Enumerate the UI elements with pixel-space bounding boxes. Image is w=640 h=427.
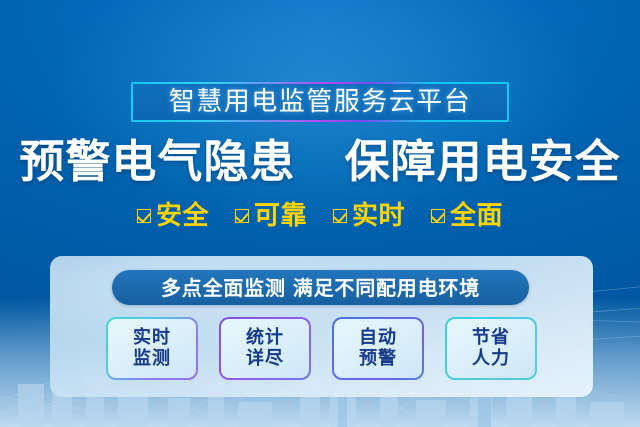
feature-card-list: 实时 监测 统计 详尽 自动 预警 节省 人力	[50, 317, 593, 380]
checkbox-checked-icon	[333, 209, 347, 223]
feature-card-inner: 节省 人力	[447, 319, 535, 378]
panel-subtitle-part-1: 多点全面监测	[161, 276, 286, 300]
checklist-label: 可靠	[254, 203, 307, 229]
feature-checklist: 安全 可靠 实时 全面	[0, 203, 640, 229]
checklist-item-anquan: 安全	[137, 203, 209, 229]
panel-subtitle-part-2: 满足不同配用电环境	[293, 276, 480, 300]
checkbox-checked-icon	[137, 209, 151, 223]
checklist-label: 安全	[156, 203, 209, 229]
feature-card-inner: 实时 监测	[108, 319, 196, 378]
panel-subtitle-pill: 多点全面监测满足不同配用电环境	[112, 270, 529, 305]
feature-card-inner: 统计 详尽	[221, 319, 309, 378]
feature-card-line-2: 人力	[472, 349, 510, 369]
feature-card-inner: 自动 预警	[334, 319, 422, 378]
feature-card-line-1: 实时	[133, 328, 171, 348]
feature-card-realtime-monitoring[interactable]: 实时 监测	[106, 317, 198, 380]
checklist-item-shishi: 实时	[333, 203, 405, 229]
feature-card-line-2: 详尽	[246, 349, 284, 369]
checkbox-checked-icon	[431, 209, 445, 223]
checklist-item-quanmian: 全面	[431, 203, 503, 229]
platform-title-box: 智慧用电监管服务云平台	[131, 82, 509, 122]
feature-card-line-1: 节省	[472, 328, 510, 348]
checkbox-checked-icon	[235, 209, 249, 223]
headline-part-1: 预警电气隐患	[19, 135, 295, 188]
feature-card-line-2: 预警	[359, 349, 397, 369]
feature-card-detailed-statistics[interactable]: 统计 详尽	[219, 317, 311, 380]
feature-card-line-2: 监测	[133, 349, 171, 369]
headline: 预警电气隐患 保障用电安全	[0, 139, 640, 184]
panel-subtitle-text: 多点全面监测满足不同配用电环境	[161, 278, 480, 298]
feature-card-save-manpower[interactable]: 节省 人力	[445, 317, 537, 380]
checklist-item-kekao: 可靠	[235, 203, 307, 229]
platform-title-text: 智慧用电监管服务云平台	[169, 89, 472, 115]
checklist-label: 全面	[450, 203, 503, 229]
feature-card-automatic-alert[interactable]: 自动 预警	[332, 317, 424, 380]
checklist-label: 实时	[352, 203, 405, 229]
feature-card-line-1: 统计	[246, 328, 284, 348]
platform-title-inner: 智慧用电监管服务云平台	[133, 84, 507, 120]
feature-card-line-1: 自动	[359, 328, 397, 348]
poster-banner: 智慧用电监管服务云平台 预警电气隐患 保障用电安全 安全 可靠 实时 全面	[0, 0, 640, 427]
headline-part-2: 保障用电安全	[345, 135, 621, 188]
